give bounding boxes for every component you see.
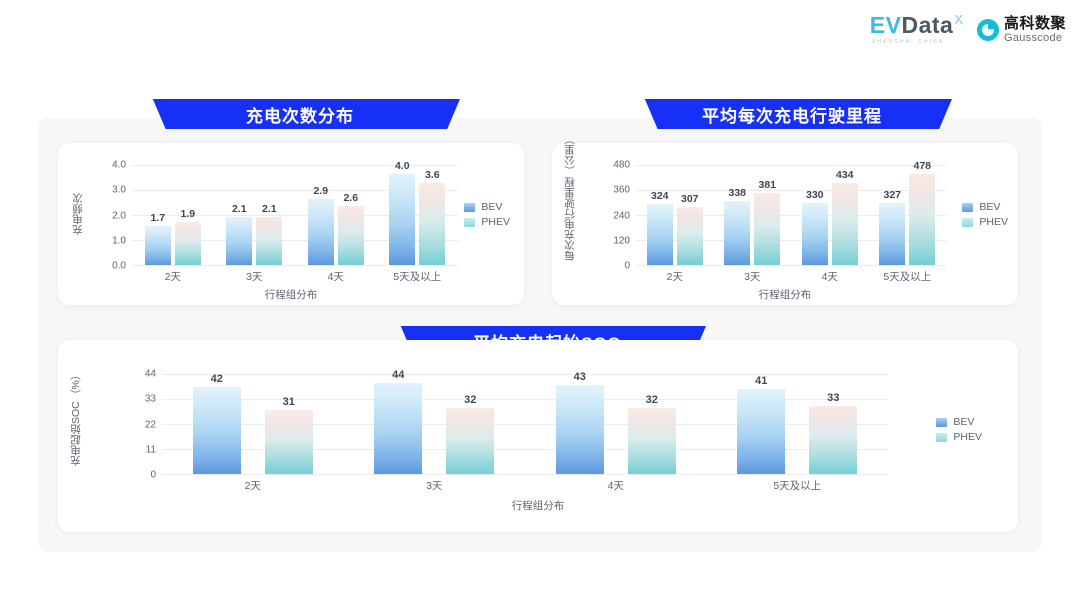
x-tick-label: 5天及以上 bbox=[377, 269, 459, 284]
bar-phev[interactable]: 478 bbox=[909, 174, 935, 265]
bar-value-label: 42 bbox=[211, 373, 223, 385]
bar-value-label: 4.0 bbox=[395, 160, 410, 172]
x-tick-label: 4天 bbox=[791, 269, 869, 284]
chart-legend: BEVPHEV bbox=[962, 201, 1008, 228]
x-axis-tick-labels: 2天3天4天5天及以上 bbox=[132, 269, 458, 284]
bar-value-label: 2.1 bbox=[262, 203, 277, 215]
bar-value-label: 3.6 bbox=[425, 169, 440, 181]
bar-value-label: 434 bbox=[836, 169, 854, 181]
x-axis-label: 行程组分布 bbox=[58, 287, 524, 302]
bar-groups: 4231443243324133 bbox=[162, 374, 888, 474]
gridline: 0 bbox=[636, 265, 946, 266]
bar-value-label: 307 bbox=[681, 193, 699, 205]
legend-item-phev[interactable]: PHEV bbox=[936, 431, 982, 443]
x-axis-tick-labels: 2天3天4天5天及以上 bbox=[636, 269, 946, 284]
bar-bev[interactable]: 324 bbox=[647, 204, 673, 265]
legend-swatch bbox=[962, 218, 973, 227]
bar-value-label: 2.1 bbox=[232, 203, 247, 215]
y-tick-label: 0 bbox=[624, 261, 630, 272]
bar-groups: 324307338381330434327478 bbox=[636, 165, 946, 265]
bar-value-label: 2.9 bbox=[313, 185, 328, 197]
bar-phev[interactable]: 2.1 bbox=[256, 217, 282, 265]
bar-group: 338381 bbox=[714, 165, 792, 265]
legend-swatch bbox=[962, 203, 973, 212]
bar-phev[interactable]: 32 bbox=[446, 408, 494, 474]
bar-value-label: 324 bbox=[651, 190, 669, 202]
legend-label: BEV bbox=[953, 416, 974, 428]
evdata-logo-data: Data bbox=[901, 14, 953, 37]
bar-value-label: 41 bbox=[755, 375, 767, 387]
gridline: 0 bbox=[162, 474, 888, 475]
bar-group: 327478 bbox=[869, 165, 947, 265]
bar-phev[interactable]: 31 bbox=[265, 410, 313, 474]
y-tick-label: 11 bbox=[146, 444, 156, 455]
legend-label: PHEV bbox=[481, 216, 510, 228]
legend-swatch bbox=[464, 218, 475, 227]
bar-phev[interactable]: 2.6 bbox=[338, 206, 364, 265]
x-tick-label: 5天及以上 bbox=[869, 269, 947, 284]
gausscode-logo-en: Gausscode bbox=[1004, 33, 1066, 44]
x-tick-label: 3天 bbox=[214, 269, 296, 284]
bar-bev[interactable]: 43 bbox=[556, 385, 604, 474]
bar-value-label: 327 bbox=[883, 189, 901, 201]
legend-label: PHEV bbox=[953, 431, 982, 443]
bar-bev[interactable]: 338 bbox=[724, 201, 750, 265]
x-tick-label: 4天 bbox=[525, 478, 707, 493]
legend-item-bev[interactable]: BEV bbox=[962, 201, 1008, 213]
plot-area: 4433221104231443243324133 bbox=[162, 374, 888, 474]
bar-value-label: 1.7 bbox=[150, 212, 165, 224]
gridline: 0.0 bbox=[132, 265, 458, 266]
bar-phev[interactable]: 3.6 bbox=[419, 183, 445, 265]
y-tick-label: 360 bbox=[613, 185, 630, 196]
x-tick-label: 3天 bbox=[344, 478, 526, 493]
x-axis-label: 行程组分布 bbox=[552, 287, 1018, 302]
bar-bev[interactable]: 4.0 bbox=[389, 174, 415, 265]
bar-group: 324307 bbox=[636, 165, 714, 265]
evdata-logo-x: X bbox=[954, 12, 963, 27]
slide-page: EV Data X SHANGHAI CHINA 高科数聚 Gausscode … bbox=[0, 0, 1080, 608]
bar-groups: 1.71.92.12.12.92.64.03.6 bbox=[132, 165, 458, 265]
x-axis-label: 行程组分布 bbox=[58, 498, 1018, 513]
bar-group: 4332 bbox=[525, 374, 707, 474]
bar-value-label: 31 bbox=[283, 396, 295, 408]
y-tick-label: 480 bbox=[613, 160, 630, 171]
bar-bev[interactable]: 330 bbox=[802, 203, 828, 266]
bar-bev[interactable]: 1.7 bbox=[145, 226, 171, 265]
chart-legend: BEVPHEV bbox=[936, 416, 982, 443]
chart-legend: BEVPHEV bbox=[464, 201, 510, 228]
y-tick-label: 240 bbox=[613, 210, 630, 221]
bar-value-label: 32 bbox=[464, 394, 476, 406]
evdata-logo-subtitle: SHANGHAI CHINA bbox=[872, 39, 944, 45]
bar-bev[interactable]: 41 bbox=[737, 389, 785, 474]
y-tick-label: 0 bbox=[150, 470, 156, 481]
y-axis-label: 充电频次 bbox=[70, 181, 85, 247]
legend-item-phev[interactable]: PHEV bbox=[464, 216, 510, 228]
logo-bar: EV Data X SHANGHAI CHINA 高科数聚 Gausscode bbox=[870, 14, 1066, 45]
chart-title-banner-1: 充电次数分布 bbox=[140, 99, 460, 129]
bar-group: 2.12.1 bbox=[214, 165, 296, 265]
bar-value-label: 330 bbox=[806, 189, 824, 201]
evdata-logo-ev: EV bbox=[870, 14, 902, 37]
y-tick-label: 1.0 bbox=[112, 235, 126, 246]
x-tick-label: 5天及以上 bbox=[707, 478, 889, 493]
bar-group: 4231 bbox=[162, 374, 344, 474]
legend-item-bev[interactable]: BEV bbox=[464, 201, 510, 213]
legend-label: BEV bbox=[979, 201, 1000, 213]
bar-phev[interactable]: 32 bbox=[628, 408, 676, 474]
y-tick-label: 120 bbox=[613, 235, 630, 246]
bar-group: 4.03.6 bbox=[377, 165, 459, 265]
bar-value-label: 2.6 bbox=[343, 192, 358, 204]
y-axis-label: 每次充电行驶里程（公里） bbox=[562, 167, 577, 261]
bar-bev[interactable]: 2.1 bbox=[226, 217, 252, 265]
bar-chart-avg-mileage: 每次充电行驶里程（公里）4803602401200324307338381330… bbox=[552, 143, 1018, 305]
bar-phev[interactable]: 1.9 bbox=[175, 222, 201, 265]
y-tick-label: 22 bbox=[145, 419, 156, 430]
y-tick-label: 3.0 bbox=[112, 185, 126, 196]
bar-bev[interactable]: 2.9 bbox=[308, 199, 334, 265]
bar-group: 1.71.9 bbox=[132, 165, 214, 265]
bar-group: 4432 bbox=[344, 374, 526, 474]
legend-label: PHEV bbox=[979, 216, 1008, 228]
bar-bev[interactable]: 44 bbox=[374, 383, 422, 474]
y-axis-label: 充电起始SOC（%） bbox=[68, 376, 83, 466]
bar-phev[interactable]: 381 bbox=[754, 193, 780, 265]
x-tick-label: 4天 bbox=[295, 269, 377, 284]
plot-area: 4.03.02.01.00.01.71.92.12.12.92.64.03.6 bbox=[132, 165, 458, 265]
bar-value-label: 1.9 bbox=[180, 208, 195, 220]
chart-card-avg-mileage: 每次充电行驶里程（公里）4803602401200324307338381330… bbox=[552, 143, 1018, 305]
evdata-logo: EV Data X SHANGHAI CHINA bbox=[870, 14, 963, 45]
bar-phev[interactable]: 307 bbox=[677, 207, 703, 265]
x-tick-label: 2天 bbox=[636, 269, 714, 284]
legend-swatch bbox=[936, 433, 947, 442]
gausscode-logo-cn: 高科数聚 bbox=[1004, 16, 1066, 31]
bar-phev[interactable]: 434 bbox=[832, 183, 858, 265]
legend-swatch bbox=[464, 203, 475, 212]
bar-group: 2.92.6 bbox=[295, 165, 377, 265]
y-tick-label: 0.0 bbox=[112, 261, 126, 272]
bar-bev[interactable]: 42 bbox=[193, 387, 241, 474]
y-tick-label: 44 bbox=[145, 369, 156, 380]
legend-label: BEV bbox=[481, 201, 502, 213]
bar-value-label: 44 bbox=[392, 369, 404, 381]
gausscode-logo: 高科数聚 Gausscode bbox=[977, 16, 1066, 44]
y-tick-label: 4.0 bbox=[112, 160, 126, 171]
bar-value-label: 43 bbox=[574, 371, 586, 383]
bar-value-label: 381 bbox=[758, 179, 776, 191]
chart-title-banner-2: 平均每次充电行驶里程 bbox=[632, 99, 952, 129]
legend-item-phev[interactable]: PHEV bbox=[962, 216, 1008, 228]
bar-phev[interactable]: 33 bbox=[809, 406, 857, 474]
gausscode-mark-icon bbox=[977, 19, 999, 41]
y-tick-label: 33 bbox=[145, 394, 156, 405]
x-tick-label: 2天 bbox=[162, 478, 344, 493]
legend-swatch bbox=[936, 418, 947, 427]
bar-value-label: 33 bbox=[827, 392, 839, 404]
plot-area: 4803602401200324307338381330434327478 bbox=[636, 165, 946, 265]
bar-value-label: 338 bbox=[728, 187, 746, 199]
bar-bev[interactable]: 327 bbox=[879, 203, 905, 265]
bar-chart-start-soc: 充电起始SOC（%）44332211042314432433241332天3天4… bbox=[58, 340, 1018, 532]
bar-chart-charging-frequency: 充电频次4.03.02.01.00.01.71.92.12.12.92.64.0… bbox=[58, 143, 524, 305]
bar-group: 4133 bbox=[707, 374, 889, 474]
bar-value-label: 478 bbox=[913, 160, 931, 172]
x-axis-tick-labels: 2天3天4天5天及以上 bbox=[162, 478, 888, 493]
x-tick-label: 2天 bbox=[132, 269, 214, 284]
chart-card-charging-frequency: 充电频次4.03.02.01.00.01.71.92.12.12.92.64.0… bbox=[58, 143, 524, 305]
legend-item-bev[interactable]: BEV bbox=[936, 416, 982, 428]
y-tick-label: 2.0 bbox=[112, 210, 126, 221]
x-tick-label: 3天 bbox=[714, 269, 792, 284]
chart-card-start-soc: 充电起始SOC（%）44332211042314432433241332天3天4… bbox=[58, 340, 1018, 532]
bar-value-label: 32 bbox=[646, 394, 658, 406]
bar-group: 330434 bbox=[791, 165, 869, 265]
